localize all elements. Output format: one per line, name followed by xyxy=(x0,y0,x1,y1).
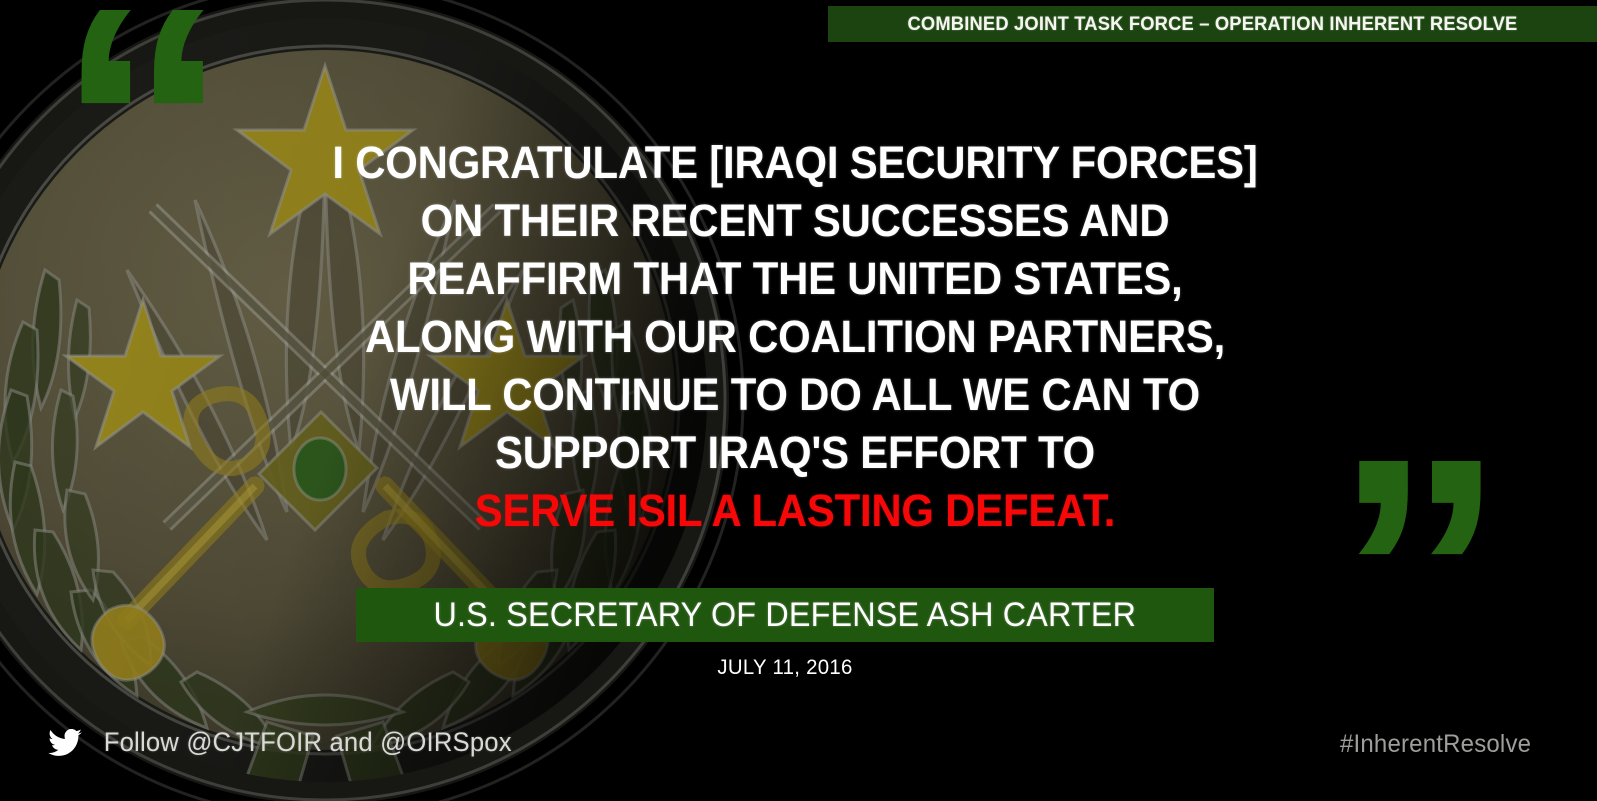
quote-line: I CONGRATULATE [IRAQI SECURITY FORCES] xyxy=(195,134,1395,192)
quote-line: REAFFIRM THAT THE UNITED STATES, xyxy=(195,250,1395,308)
footer-social: Follow @CJTFOIR and @OIRSpox xyxy=(48,727,523,758)
closing-quote-mark: ” xyxy=(1333,409,1500,739)
attribution-bar: U.S. SECRETARY OF DEFENSE ASH CARTER xyxy=(356,588,1214,642)
quote-graphic-canvas: COMBINED JOINT TASK FORCE – OPERATION IN… xyxy=(0,0,1597,801)
twitter-handles-label: Follow @CJTFOIR and @OIRSpox xyxy=(104,727,512,758)
header-banner: COMBINED JOINT TASK FORCE – OPERATION IN… xyxy=(828,6,1597,42)
footer-hashtag: #InherentResolve xyxy=(1340,730,1531,759)
quote-line: ON THEIR RECENT SUCCESSES AND xyxy=(195,192,1395,250)
header-banner-title: COMBINED JOINT TASK FORCE – OPERATION IN… xyxy=(907,13,1517,36)
twitter-bird-icon xyxy=(48,729,82,757)
attribution-speaker: U.S. SECRETARY OF DEFENSE ASH CARTER xyxy=(434,596,1137,635)
quote-text-block: I CONGRATULATE [IRAQI SECURITY FORCES] O… xyxy=(150,134,1440,540)
quote-line: SUPPORT IRAQ'S EFFORT TO xyxy=(195,424,1395,482)
quote-line: WILL CONTINUE TO DO ALL WE CAN TO xyxy=(195,366,1395,424)
quote-date: JULY 11, 2016 xyxy=(24,656,1547,680)
quote-line: ALONG WITH OUR COALITION PARTNERS, xyxy=(195,308,1395,366)
quote-line-emphasis: SERVE ISIL A LASTING DEFEAT. xyxy=(195,482,1395,540)
